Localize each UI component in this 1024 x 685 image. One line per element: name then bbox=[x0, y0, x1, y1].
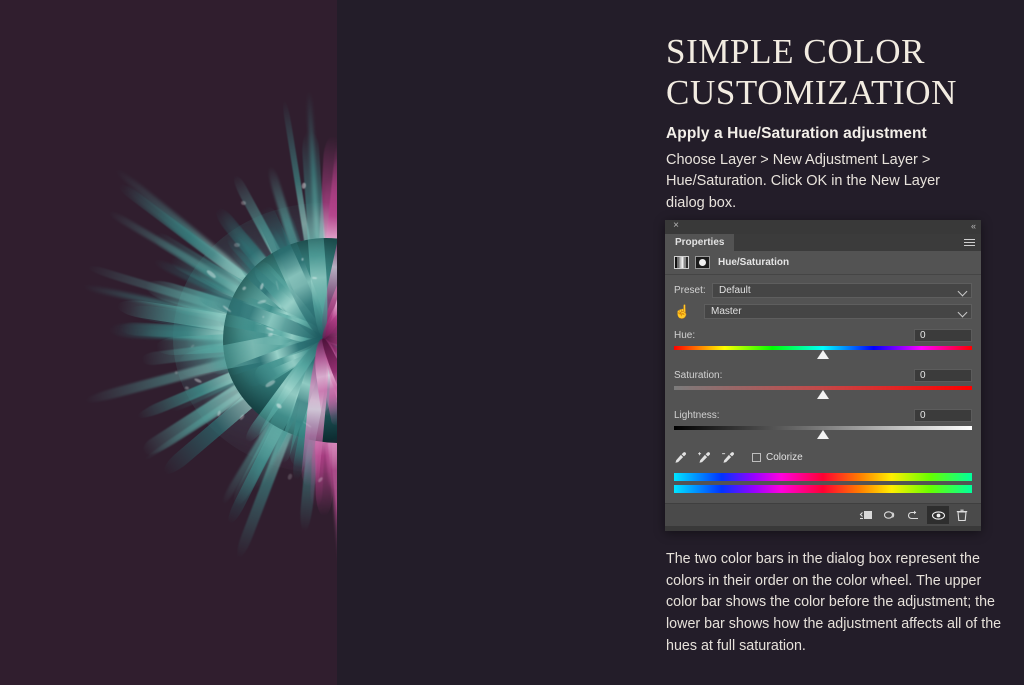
intro-paragraph: Choose Layer > New Adjustment Layer > Hu… bbox=[666, 150, 966, 214]
visibility-eye-icon[interactable] bbox=[927, 506, 949, 524]
saturation-value-field[interactable]: 0 bbox=[914, 369, 972, 382]
artwork-panel bbox=[0, 0, 337, 685]
adjustment-header: Hue/Saturation bbox=[665, 251, 981, 275]
hue-label: Hue: bbox=[674, 330, 695, 341]
adjustment-thumbnail-icon[interactable] bbox=[674, 256, 689, 269]
chevron-down-icon bbox=[958, 308, 968, 318]
tab-properties[interactable]: Properties bbox=[665, 234, 734, 251]
color-bar-after bbox=[674, 485, 972, 493]
creature-highlight bbox=[301, 258, 304, 261]
slider-lightness: Lightness: 0 bbox=[674, 408, 972, 443]
eyedropper-subtract-icon[interactable] bbox=[722, 451, 735, 464]
layer-mask-icon[interactable] bbox=[695, 256, 710, 269]
lightness-slider-thumb[interactable] bbox=[817, 430, 829, 439]
slider-saturation: Saturation: 0 bbox=[674, 368, 972, 403]
creature-stage bbox=[0, 0, 337, 685]
colorize-label: Colorize bbox=[766, 452, 803, 463]
panel-footer bbox=[665, 503, 981, 526]
tools-row: Colorize bbox=[674, 451, 972, 464]
chevron-down-icon bbox=[958, 287, 968, 297]
adjustment-title: Hue/Saturation bbox=[718, 257, 789, 268]
content-column: SIMPLE COLOR CUSTOMIZATION Apply a Hue/S… bbox=[337, 0, 1024, 685]
toggle-mask-view-icon[interactable] bbox=[879, 506, 901, 524]
channel-value: Master bbox=[711, 305, 742, 318]
preset-dropdown[interactable]: Default bbox=[712, 283, 972, 298]
panel-topbar: × « bbox=[665, 220, 981, 234]
delete-trash-icon[interactable] bbox=[951, 506, 973, 524]
preset-value: Default bbox=[719, 284, 751, 297]
lightness-value-field[interactable]: 0 bbox=[914, 409, 972, 422]
channel-row: ☝ Master bbox=[674, 304, 972, 319]
section-subheading: Apply a Hue/Saturation adjustment bbox=[666, 125, 996, 143]
page-title: SIMPLE COLOR CUSTOMIZATION bbox=[666, 32, 986, 114]
panel-tabbar: Properties bbox=[665, 234, 981, 251]
saturation-label: Saturation: bbox=[674, 370, 722, 381]
targeted-adjustment-hand-icon[interactable]: ☝ bbox=[674, 305, 704, 318]
preset-label: Preset: bbox=[674, 285, 712, 296]
color-bar-before bbox=[674, 473, 972, 481]
hamburger-menu-icon[interactable] bbox=[964, 239, 975, 247]
properties-panel: × « Properties Hue/Saturation Preset: De… bbox=[665, 220, 981, 531]
eyedropper-add-icon[interactable] bbox=[698, 451, 711, 464]
panel-body: Preset: Default ☝ Master Hue: bbox=[665, 275, 981, 503]
hue-value-field[interactable]: 0 bbox=[914, 329, 972, 342]
eyedropper-icon[interactable] bbox=[674, 451, 687, 464]
hue-slider-track-wrap[interactable] bbox=[674, 345, 972, 363]
poster-page: SIMPLE COLOR CUSTOMIZATION Apply a Hue/S… bbox=[0, 0, 1024, 685]
lightness-slider-track-wrap[interactable] bbox=[674, 425, 972, 443]
saturation-slider-track-wrap[interactable] bbox=[674, 385, 972, 403]
footer-paragraph: The two color bars in the dialog box rep… bbox=[666, 549, 1014, 658]
colorize-checkbox[interactable]: Colorize bbox=[752, 452, 803, 463]
clip-to-layer-icon[interactable] bbox=[855, 506, 877, 524]
panel-bottom-edge bbox=[665, 526, 981, 531]
checkbox-box bbox=[752, 453, 761, 462]
channel-dropdown[interactable]: Master bbox=[704, 304, 972, 319]
hue-slider-thumb[interactable] bbox=[817, 350, 829, 359]
creature-highlight bbox=[234, 243, 240, 247]
reset-icon[interactable] bbox=[903, 506, 925, 524]
collapse-icon[interactable]: « bbox=[971, 222, 975, 231]
abstract-tentacle-creature bbox=[28, 78, 337, 598]
preset-row: Preset: Default bbox=[674, 283, 972, 298]
creature-highlight bbox=[287, 473, 293, 480]
close-icon[interactable]: × bbox=[671, 221, 681, 231]
lightness-label: Lightness: bbox=[674, 410, 720, 421]
saturation-slider-thumb[interactable] bbox=[817, 390, 829, 399]
slider-hue: Hue: 0 bbox=[674, 328, 972, 363]
